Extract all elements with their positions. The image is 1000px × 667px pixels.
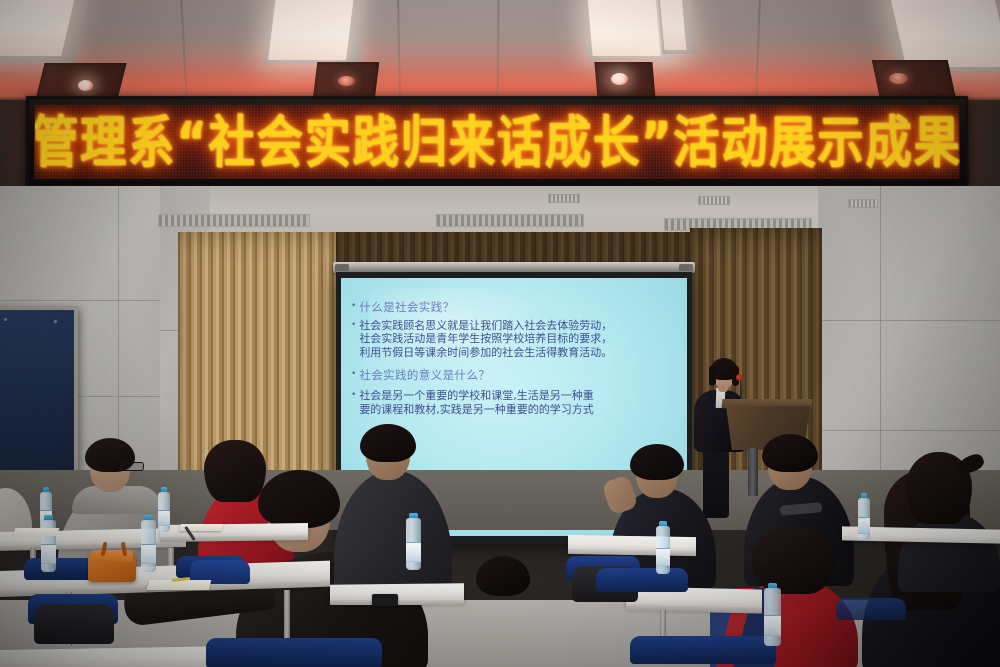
chair-back (596, 568, 688, 592)
water-bottle (141, 520, 156, 572)
audience-hair (630, 444, 684, 480)
bullet-icon: • (351, 368, 356, 381)
table-leg (284, 590, 290, 644)
slide-paragraph-line: 社会是另一个重要的学校和课堂,生活是另一种重 (359, 389, 594, 402)
wall-tile-line (0, 300, 186, 301)
audience-hair (476, 556, 530, 596)
led-banner-text: 管理系“社会实践归来话成长”活动展示成果 (34, 115, 960, 169)
wall-tile-line (818, 430, 1000, 431)
led-banner: 管理系“社会实践归来话成长”活动展示成果 (26, 96, 968, 188)
chair-back (630, 636, 776, 664)
ceiling-vent-long (436, 214, 584, 227)
presenter-hair-side (709, 366, 716, 386)
notebook (147, 580, 212, 590)
ceiling-vent-long (158, 214, 310, 227)
ceiling (0, 0, 1000, 100)
downlight (889, 73, 908, 84)
bottle-cap (861, 493, 868, 498)
water-bottle (406, 518, 421, 570)
slide-heading-1: 什么是社会实践？ (359, 300, 454, 314)
slide-bullet-line: • 什么是社会实践？ (351, 300, 679, 314)
lecture-hall-photo: 管理系“社会实践归来话成长”活动展示成果 (0, 0, 1000, 667)
audience-hair (752, 528, 836, 594)
ceiling-vent (698, 196, 730, 205)
wall-tile-line (880, 186, 881, 516)
led-banner-frame: 管理系“社会实践归来话成长”活动展示成果 (25, 96, 969, 188)
water-bottle (858, 498, 870, 540)
orange-shoulder-bag (88, 554, 136, 582)
bottle-label (41, 544, 56, 564)
chair-back (836, 598, 906, 620)
bottle-cap (43, 487, 50, 492)
slide-bullet-line: • 社会实践的意义是什么？ (351, 368, 679, 382)
slide-heading-2: 社会实践的意义是什么？ (359, 368, 490, 382)
strip-light (268, 0, 354, 60)
audience-hair (762, 434, 818, 472)
slide-paragraph-line: 社会实践顾名思义就是让我们踏入社会去体验劳动， (359, 319, 612, 332)
bottle-label (406, 542, 421, 562)
bottle-label (764, 615, 781, 637)
slide-content: • 什么是社会实践？ • 社会实践顾名思义就是让我们踏入社会去体验劳动， 社会实… (351, 300, 679, 421)
bottle-cap (659, 521, 667, 526)
bag-flap (91, 550, 133, 562)
chair-back (24, 558, 98, 580)
podium-stem (748, 448, 758, 496)
bottle-cap (409, 513, 417, 518)
strip-light (890, 0, 1000, 67)
slide-paragraph-line: 利用节假日等课余时间参加的社会生活得教育活动。 (359, 346, 612, 359)
water-bottle (764, 588, 781, 646)
ceiling-vent (848, 199, 878, 208)
wall-tile-line (818, 320, 1000, 321)
audience-hair (360, 424, 416, 462)
bottle-label (858, 517, 870, 533)
microphone-head (736, 374, 743, 381)
board-tack (4, 318, 7, 321)
slide-paragraph-line: 社会实践活动是青年学生按照学校培养目标的要求， (359, 332, 612, 345)
phone (372, 594, 398, 606)
bottle-cap (44, 515, 52, 520)
roller-cap (335, 264, 349, 271)
bottle-cap (161, 487, 168, 492)
audience-hair (204, 440, 266, 502)
slide-bullet-line: • 社会是另一个重要的学校和课堂,生活是另一种重 要的课程和教材,实践是另一种重… (351, 389, 679, 416)
ceiling-vent (548, 194, 580, 203)
papers (13, 528, 60, 536)
bullet-icon: • (351, 300, 356, 313)
bottle-label (141, 544, 156, 564)
slide-paragraph-line: 要的课程和教材,实践是另一种重要的的学习方式 (359, 403, 594, 416)
bottle-cap (144, 515, 152, 520)
bottle-label (158, 510, 170, 526)
bottle-cap (768, 583, 778, 588)
recessed-ceiling-panel (872, 60, 957, 100)
strip-light (587, 0, 660, 56)
downlight (338, 76, 355, 86)
notice-board (0, 306, 78, 482)
board-tack (54, 320, 57, 323)
led-banner-face: 管理系“社会实践归来话成长”活动展示成果 (34, 105, 960, 179)
chair-back (206, 638, 382, 667)
downlight (611, 73, 628, 85)
roller-cap (679, 264, 693, 271)
bullet-icon: • (351, 389, 356, 402)
slide-paragraph-2: 社会是另一个重要的学校和课堂,生活是另一种重 要的课程和教材,实践是另一种重要的… (359, 389, 594, 416)
slide-bullet-line: • 社会实践顾名思义就是让我们踏入社会去体验劳动， 社会实践活动是青年学生按照学… (351, 319, 679, 359)
water-bottle (656, 526, 670, 574)
downlight (78, 80, 93, 91)
slide-paragraph-1: 社会实践顾名思义就是让我们踏入社会去体验劳动， 社会实践活动是青年学生按照学校培… (359, 319, 612, 359)
water-bottle (158, 492, 170, 532)
bottle-label (656, 548, 670, 566)
bullet-icon: • (351, 319, 356, 332)
strip-light (660, 0, 687, 50)
glasses-icon (120, 462, 144, 471)
chair-seat-pad (34, 604, 114, 644)
